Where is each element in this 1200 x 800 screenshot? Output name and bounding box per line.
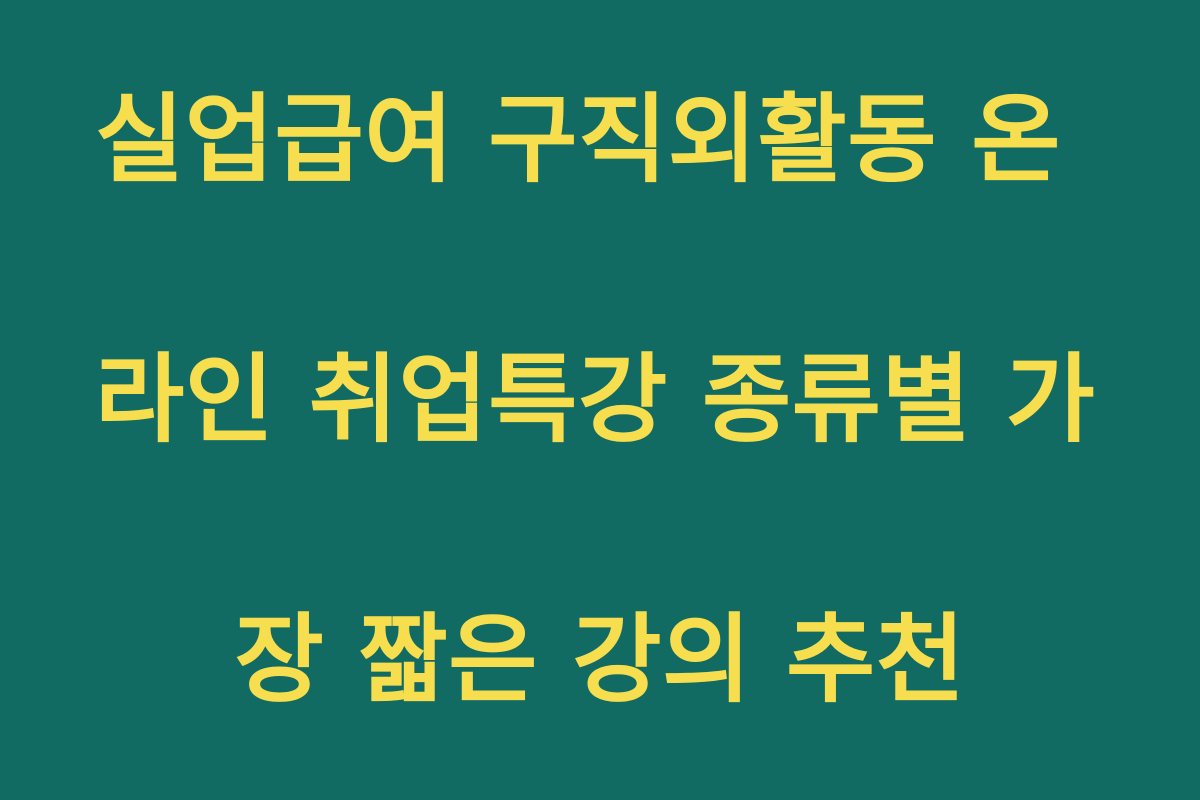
page-title: 실업급여 구직외활동 온 라인 취업특강 종류별 가 장 짧은 강의 추천 [95,0,1105,800]
headline-line-3: 장 짧은 강의 추천 [95,595,1105,725]
text-banner: 실업급여 구직외활동 온 라인 취업특강 종류별 가 장 짧은 강의 추천 [0,0,1200,800]
headline-line-2: 라인 취업특강 종류별 가 [95,335,1105,465]
headline-line-1: 실업급여 구직외활동 온 [95,75,1105,205]
